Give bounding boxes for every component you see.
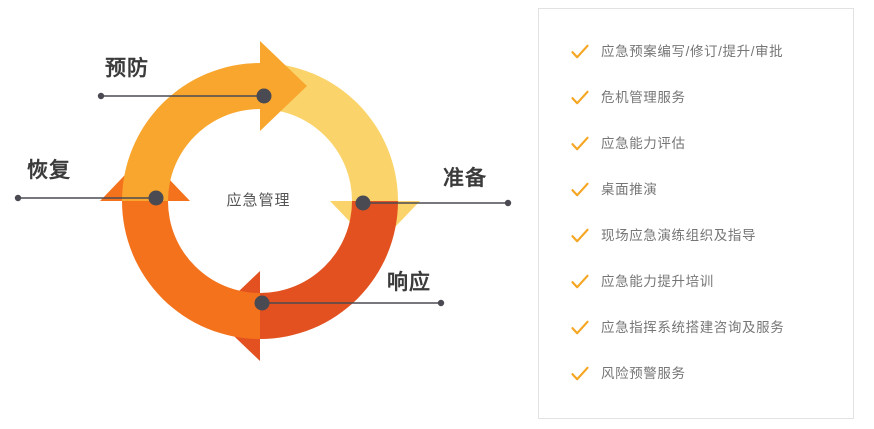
- list-item[interactable]: 应急能力提升培训: [570, 259, 847, 305]
- cycle-arrow-prevention[interactable]: [122, 41, 307, 201]
- list-item[interactable]: 桌面推演: [570, 167, 847, 213]
- cycle-label-prevention[interactable]: 预防: [105, 58, 149, 79]
- check-icon: [570, 42, 590, 62]
- cycle-arrows-svg: [0, 0, 530, 429]
- check-icon: [570, 272, 590, 292]
- cycle-label-preparedness[interactable]: 准备: [443, 168, 487, 189]
- list-item[interactable]: 应急能力评估: [570, 121, 847, 167]
- list-item[interactable]: 应急预案编写/修订/提升/审批: [570, 29, 847, 75]
- list-item-label: 桌面推演: [601, 183, 657, 197]
- check-icon: [570, 226, 590, 246]
- check-icon: [570, 318, 590, 338]
- list-item-label: 现场应急演练组织及指导: [601, 229, 756, 243]
- list-item[interactable]: 风险预警服务: [570, 351, 847, 397]
- list-item-label: 危机管理服务: [601, 91, 686, 105]
- list-item-label: 风险预警服务: [601, 367, 686, 381]
- list-item[interactable]: 危机管理服务: [570, 75, 847, 121]
- list-item-label: 应急能力提升培训: [601, 275, 714, 289]
- list-item[interactable]: 现场应急演练组织及指导: [570, 213, 847, 259]
- list-item[interactable]: 应急指挥系统搭建咨询及服务: [570, 305, 847, 351]
- services-list: 应急预案编写/修订/提升/审批 危机管理服务 应急能力评估 桌面推演: [570, 29, 847, 397]
- list-item-label: 应急指挥系统搭建咨询及服务: [601, 321, 784, 335]
- check-icon: [570, 88, 590, 108]
- check-icon: [570, 134, 590, 154]
- check-icon: [570, 180, 590, 200]
- cycle-label-response[interactable]: 响应: [387, 272, 431, 293]
- emergency-management-cycle-diagram: 预防 恢复 准备 响应 应急管理: [0, 0, 530, 429]
- services-panel: 应急预案编写/修订/提升/审批 危机管理服务 应急能力评估 桌面推演: [538, 8, 854, 419]
- check-icon: [570, 364, 590, 384]
- list-item-label: 应急预案编写/修订/提升/审批: [601, 45, 783, 59]
- infographic-root: 预防 恢复 准备 响应 应急管理 应急预案编写/修订/提升/审批 危机管理服务: [0, 0, 874, 429]
- cycle-label-recovery[interactable]: 恢复: [27, 160, 71, 181]
- list-item-label: 应急能力评估: [601, 137, 686, 151]
